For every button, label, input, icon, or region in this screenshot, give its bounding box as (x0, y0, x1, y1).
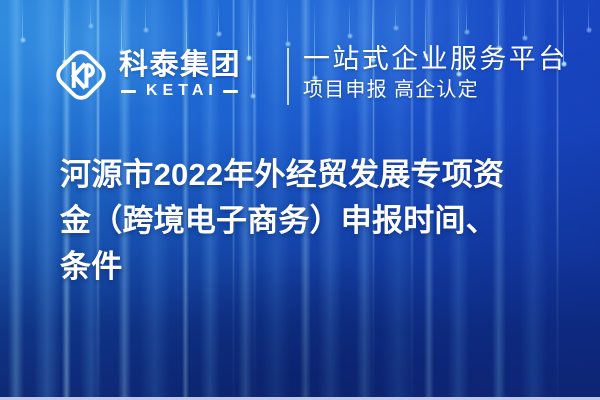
brand-dash-left-icon (121, 90, 136, 93)
brand-latin-row: KETAI (119, 83, 241, 99)
slogan-primary: 一站式企业服务平台 (303, 44, 568, 74)
brand-logo[interactable]: 科泰集团 KETAI (52, 46, 241, 104)
slogan-secondary: 项目申报 高企认定 (303, 78, 568, 102)
promo-banner: 科泰集团 KETAI 一站式企业服务平台 项目申报 高企认定 河源市2022年外… (0, 0, 600, 400)
banner-header: 科泰集团 KETAI 一站式企业服务平台 项目申报 高企认定 (0, 0, 600, 140)
page-title-line: 条件 (60, 244, 576, 290)
brand-dash-right-icon (223, 90, 238, 93)
header-divider (287, 48, 289, 105)
page-title: 河源市2022年外经贸发展专项资金（跨境电子商务）申报时间、条件 (60, 152, 576, 290)
ketai-diamond-monogram-icon (52, 46, 110, 104)
slogan-block: 一站式企业服务平台 项目申报 高企认定 (303, 44, 568, 102)
page-title-line: 河源市2022年外经贸发展专项资 (60, 152, 576, 198)
brand-name-cn: 科泰集团 (119, 51, 241, 81)
brand-wordmark: 科泰集团 KETAI (119, 51, 241, 100)
brand-name-latin: KETAI (141, 83, 218, 99)
page-title-line: 金（跨境电子商务）申报时间、 (60, 198, 576, 244)
